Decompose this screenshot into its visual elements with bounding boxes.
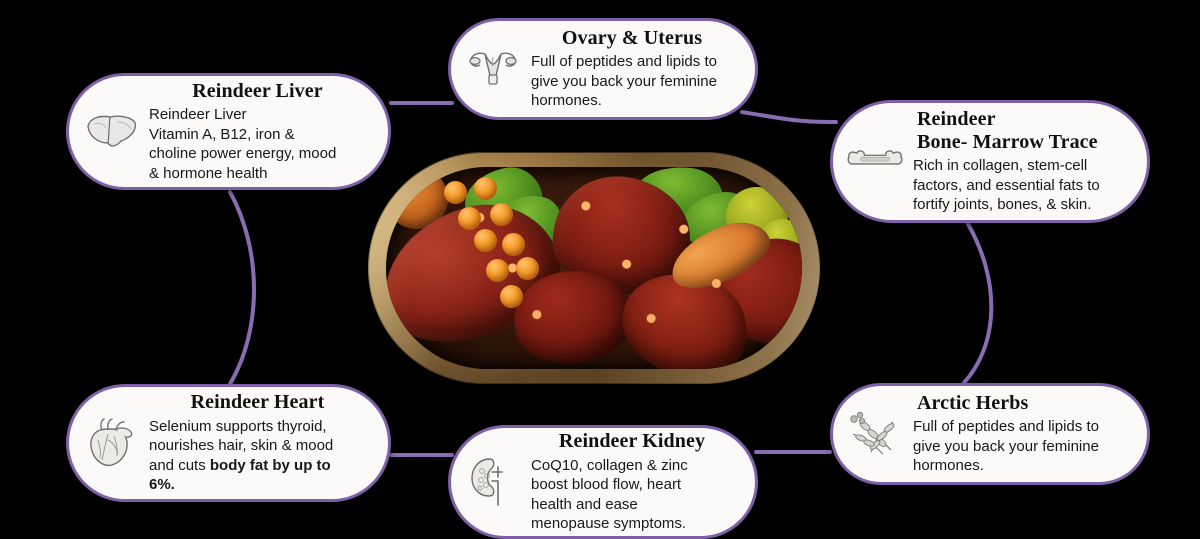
card-text: Reindeer Bone- Marrow Trace Rich in coll… [913, 108, 1125, 214]
wooden-bowl [368, 152, 820, 384]
cloudberry [444, 181, 467, 204]
card-reindeer-heart[interactable]: Reindeer Heart Selenium supports thyroid… [66, 384, 391, 502]
liver-icon [83, 104, 139, 160]
card-description: Selenium supports thyroid, nourishes hai… [149, 417, 366, 495]
card-title: Reindeer Heart [149, 391, 366, 413]
uterus-ovary-icon [465, 41, 521, 97]
card-description: Full of peptides and lipids to give you … [913, 417, 1125, 476]
card-arctic-herbs[interactable]: Arctic Herbs Full of peptides and lipids… [830, 383, 1150, 485]
card-reindeer-liver[interactable]: Reindeer Liver Reindeer Liver Vitamin A,… [66, 73, 391, 190]
cloudberry [474, 229, 497, 252]
card-text: Reindeer Kidney CoQ10, collagen & zinc b… [531, 430, 733, 533]
card-ovary-uterus[interactable]: Ovary & Uterus Full of peptides and lipi… [448, 18, 758, 120]
connector-bone-herbs [962, 224, 991, 385]
card-text: Reindeer Heart Selenium supports thyroid… [149, 391, 366, 494]
card-text: Arctic Herbs Full of peptides and lipids… [913, 392, 1125, 476]
bone-icon [847, 134, 903, 190]
card-description: CoQ10, collagen & zinc boost blood flow,… [531, 456, 733, 534]
card-bone-marrow-trace[interactable]: Reindeer Bone- Marrow Trace Rich in coll… [830, 100, 1150, 223]
card-reindeer-kidney[interactable]: Reindeer Kidney CoQ10, collagen & zinc b… [448, 425, 758, 539]
cloudberry [516, 257, 539, 280]
herb-sprig-icon [847, 406, 903, 462]
cloudberry [474, 177, 497, 200]
card-title: Ovary & Uterus [531, 27, 733, 49]
bowl-interior [386, 167, 802, 369]
card-title: Reindeer Bone- Marrow Trace [913, 108, 1125, 153]
card-description: Reindeer Liver Vitamin A, B12, iron & ch… [149, 105, 366, 183]
card-title: Arctic Herbs [913, 392, 1125, 414]
connector-ovary-bone [742, 112, 836, 122]
cloudberry [490, 203, 513, 226]
kidney-icon [465, 454, 521, 510]
cloudberry [500, 285, 523, 308]
infographic-root: Reindeer Liver Reindeer Liver Vitamin A,… [0, 0, 1200, 539]
card-description: Full of peptides and lipids to give you … [531, 52, 733, 111]
card-text: Reindeer Liver Reindeer Liver Vitamin A,… [149, 80, 366, 183]
card-description: Rich in collagen, stem-cell factors, and… [913, 156, 1125, 215]
cloudberry [486, 259, 509, 282]
card-text: Ovary & Uterus Full of peptides and lipi… [531, 27, 733, 111]
heart-anatomical-icon [83, 415, 139, 471]
cloudberry [458, 207, 481, 230]
card-title: Reindeer Kidney [531, 430, 733, 452]
center-product-image [368, 152, 820, 384]
cloudberry [502, 233, 525, 256]
connector-liver-heart [230, 192, 254, 384]
card-title: Reindeer Liver [149, 80, 366, 102]
